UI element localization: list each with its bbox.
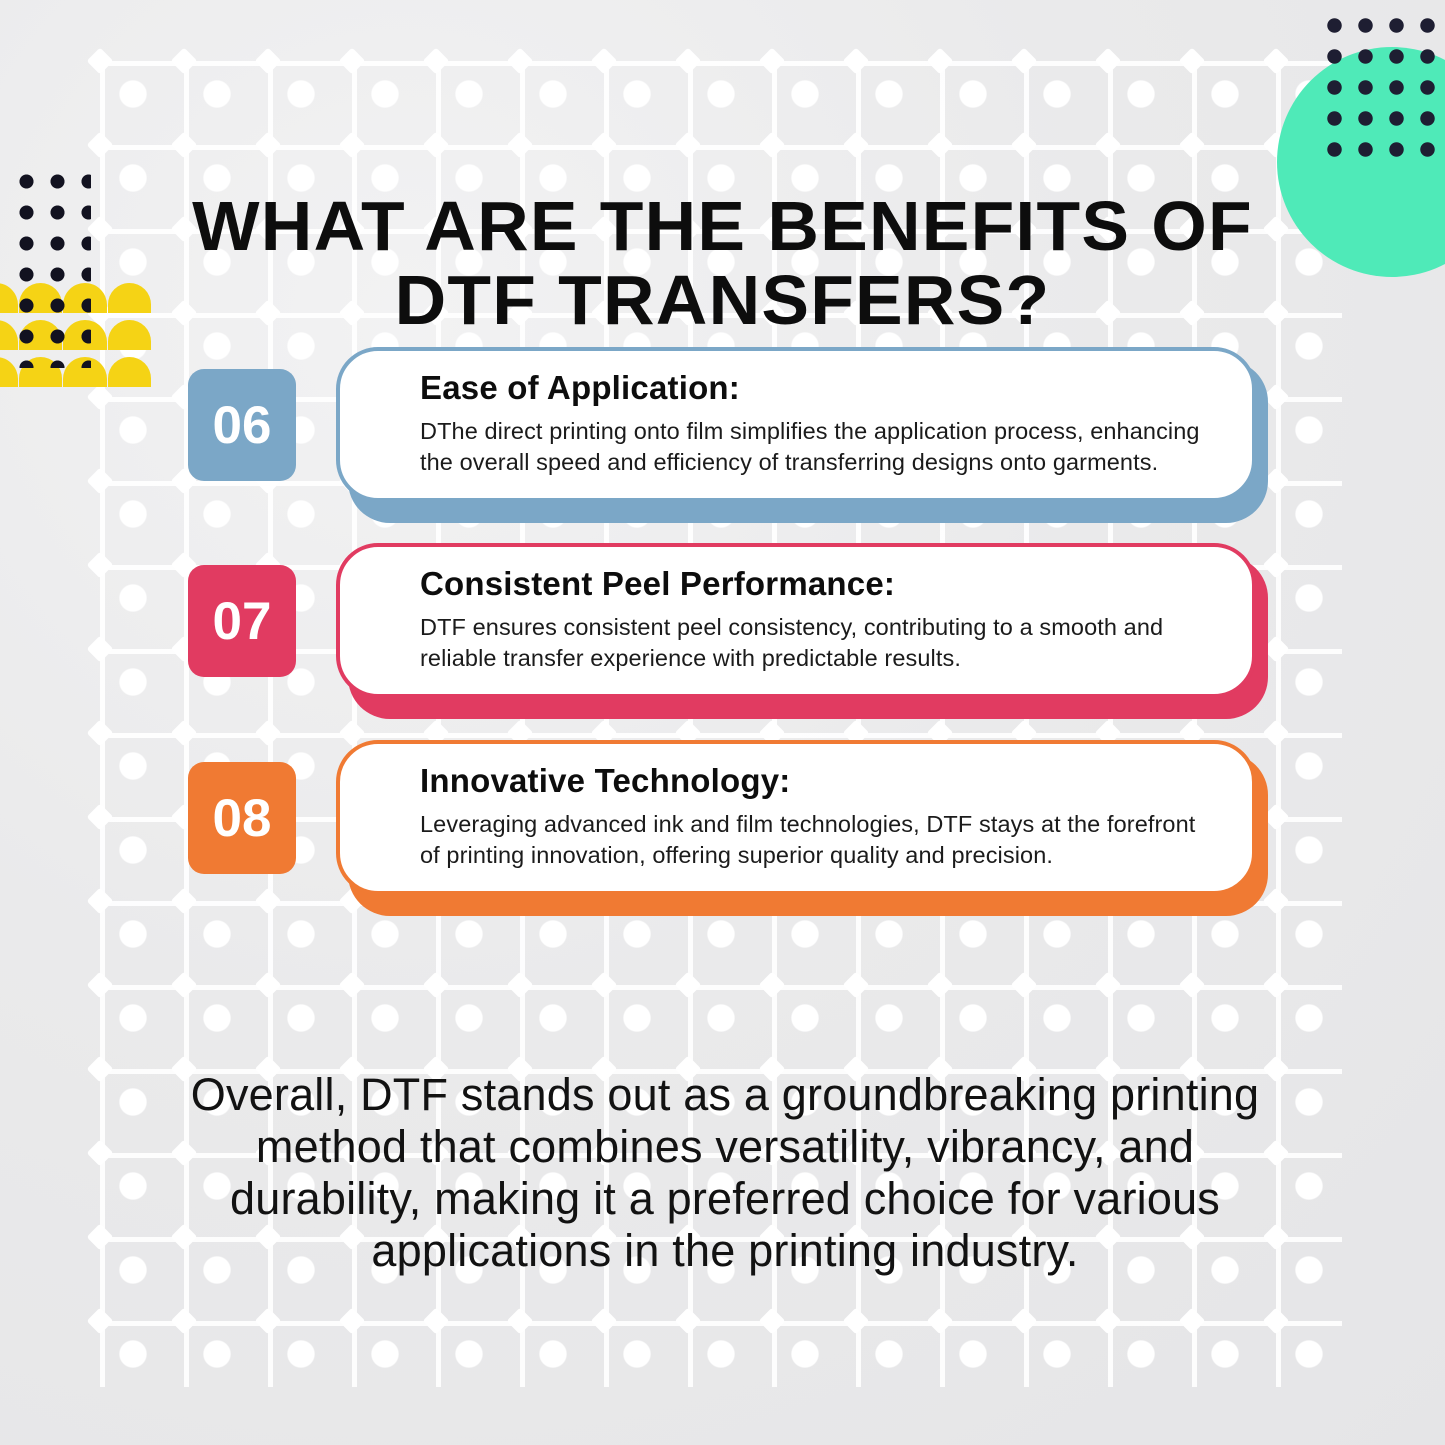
closing-paragraph: Overall, DTF stands out as a groundbreak… (175, 1069, 1275, 1277)
badge-07: 07 (188, 565, 296, 677)
badge-number: 07 (213, 591, 272, 652)
black-dot-grid-decoration (11, 166, 91, 368)
badge-number: 08 (213, 788, 272, 849)
page-title: What are the Benefits of DTF Transfers? (169, 189, 1276, 337)
badge-number: 06 (213, 395, 272, 456)
benefit-description: DThe direct printing onto film simplifie… (420, 416, 1220, 478)
benefit-description: Leveraging advanced ink and film technol… (420, 809, 1220, 871)
benefit-heading: Consistent Peel Performance: (420, 566, 1220, 602)
benefit-card-body: Consistent Peel Performance:DTF ensures … (336, 543, 1256, 698)
badge-08: 08 (188, 762, 296, 874)
benefit-card-innovative-technology[interactable]: 08Innovative Technology:Leveraging advan… (188, 740, 1288, 916)
benefit-card-consistent-peel-performance[interactable]: 07Consistent Peel Performance:DTF ensure… (188, 543, 1288, 719)
benefit-card-ease-of-application[interactable]: 06Ease of Application:DThe direct printi… (188, 347, 1288, 523)
benefit-card-body: Ease of Application:DThe direct printing… (336, 347, 1256, 502)
navy-dot-grid-decoration (1317, 8, 1437, 168)
yellow-half-circle-scales-decoration (0, 283, 152, 395)
benefit-heading: Innovative Technology: (420, 763, 1220, 799)
badge-06: 06 (188, 369, 296, 481)
benefit-card-wrapper: Ease of Application:DThe direct printing… (336, 347, 1256, 523)
benefit-card-body: Innovative Technology:Leveraging advance… (336, 740, 1256, 895)
teal-circle-decoration (1277, 47, 1445, 277)
benefit-card-wrapper: Consistent Peel Performance:DTF ensures … (336, 543, 1256, 719)
benefit-card-wrapper: Innovative Technology:Leveraging advance… (336, 740, 1256, 916)
benefit-heading: Ease of Application: (420, 370, 1220, 406)
benefit-description: DTF ensures consistent peel consistency,… (420, 612, 1220, 674)
infographic-canvas: What are the Benefits of DTF Transfers? … (0, 0, 1445, 1445)
